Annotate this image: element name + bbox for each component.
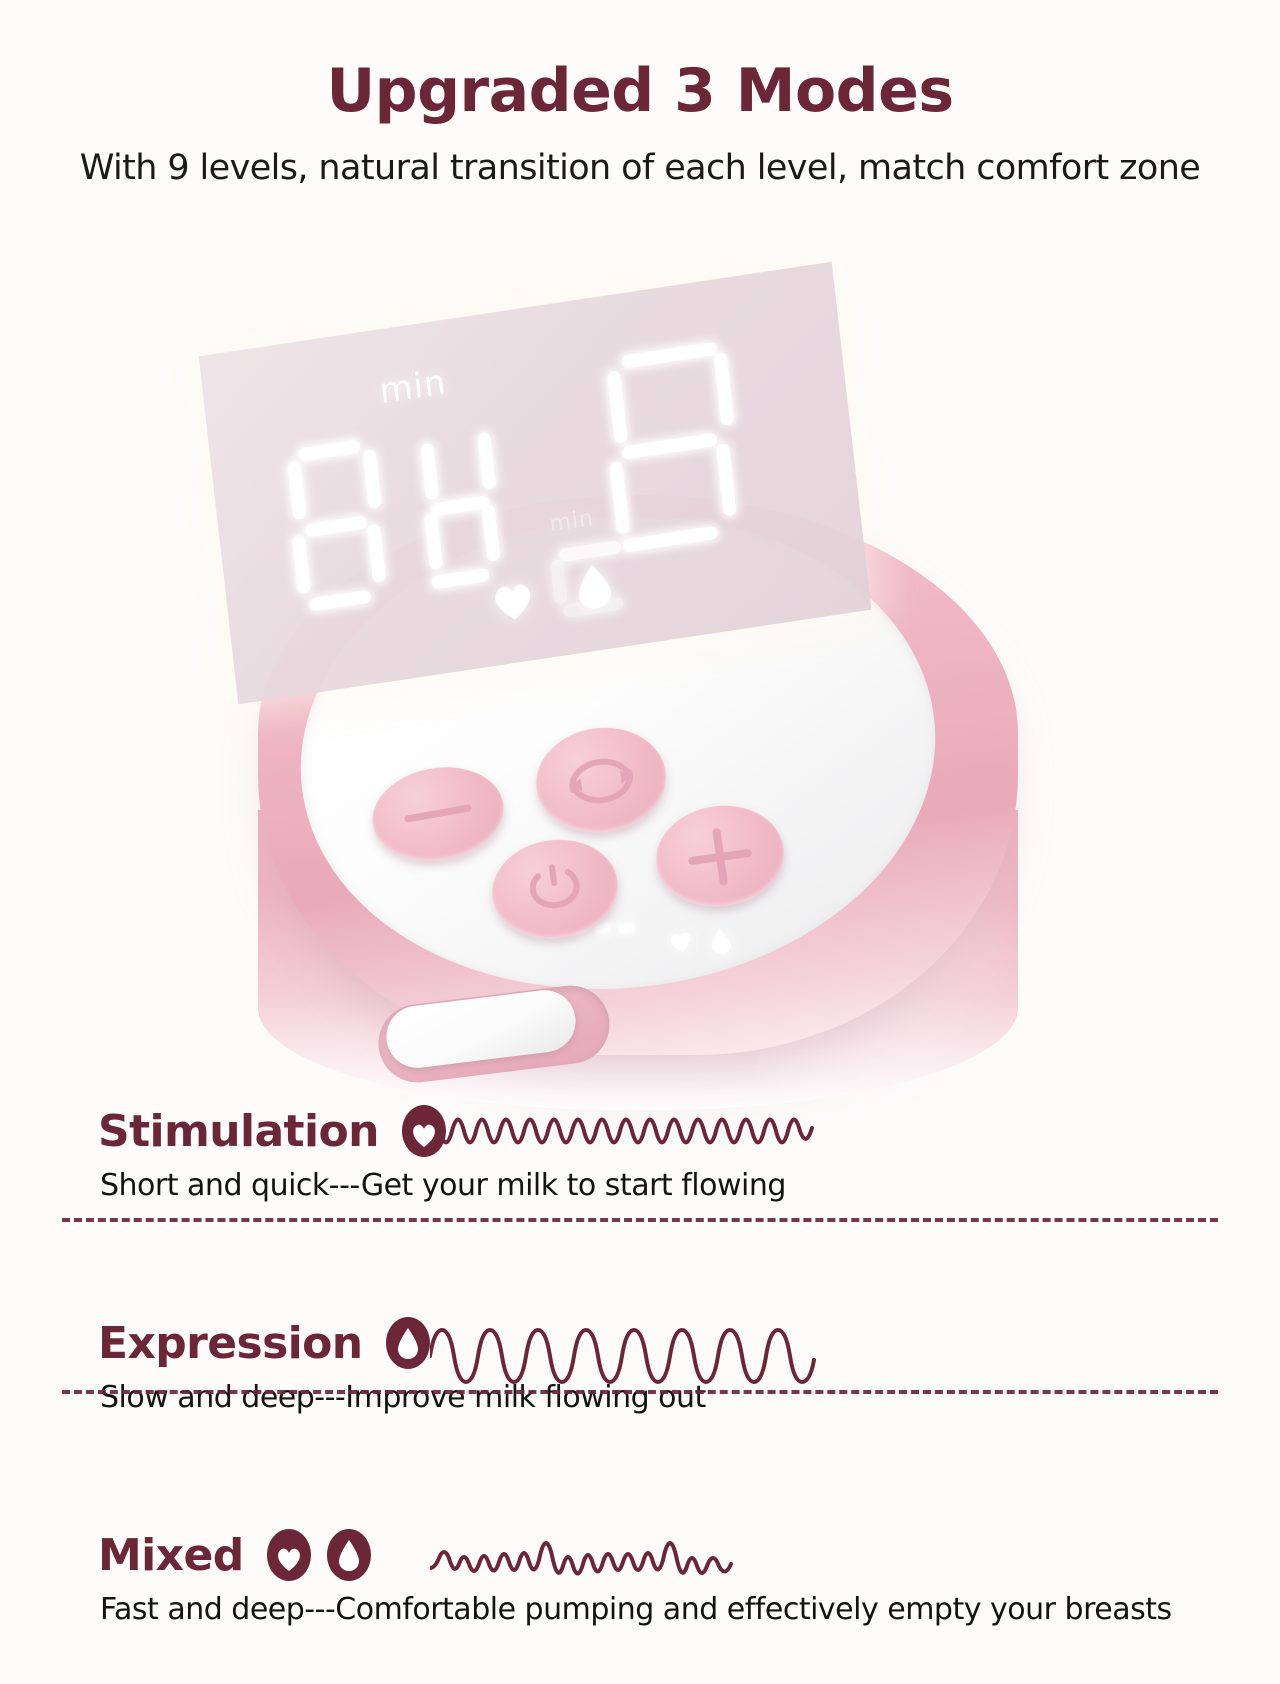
- mode-description: Short and quick---Get your milk to start…: [100, 1168, 786, 1203]
- mode-divider: [62, 1390, 1218, 1394]
- infographic-page: Upgraded 3 Modes With 9 levels, natural …: [0, 0, 1280, 1660]
- mode-heading: Stimulation: [98, 1104, 447, 1158]
- mode-description: Fast and deep---Comfortable pumping and …: [100, 1592, 1172, 1627]
- mode-heading: Mixed: [98, 1528, 372, 1582]
- breast-pump-device: min: [0, 250, 1280, 1130]
- expression-waveform: [430, 1308, 830, 1388]
- mode-title: Mixed: [98, 1530, 244, 1581]
- mode-icon-group: [266, 1528, 372, 1582]
- page-subtitle: With 9 levels, natural transition of eac…: [0, 148, 1280, 188]
- mode-title: Stimulation: [98, 1106, 379, 1157]
- droplet-icon: [573, 560, 616, 613]
- mode-heading: Expression: [98, 1316, 431, 1370]
- droplet-icon: [385, 1316, 431, 1370]
- droplet-icon: [708, 927, 734, 957]
- minus-icon: [401, 800, 474, 826]
- modes-list: Stimulation Short and quick---Get your m…: [0, 1090, 1280, 1684]
- mode-description: Slow and deep---Improve milk flowing out: [100, 1380, 706, 1415]
- cycle-arrows-icon: [556, 745, 646, 818]
- lcd-unit-label: min: [378, 362, 449, 412]
- page-title: Upgraded 3 Modes: [0, 56, 1280, 126]
- lcd-unit-label-secondary: min: [548, 506, 595, 537]
- mixed-waveform: [430, 1520, 840, 1600]
- product-illustration: min: [0, 250, 1280, 1130]
- mode-row-expression: Expression Slow and deep---Improve milk …: [0, 1302, 1280, 1472]
- heart-icon: [666, 928, 695, 955]
- heart-icon: [488, 577, 538, 626]
- droplet-icon: [326, 1528, 372, 1582]
- heart-icon: [266, 1528, 312, 1582]
- mode-icon-group: [385, 1316, 431, 1370]
- power-icon: [514, 855, 596, 925]
- mode-title: Expression: [98, 1318, 363, 1369]
- mode-row-stimulation: Stimulation Short and quick---Get your m…: [0, 1090, 1280, 1260]
- mode-row-mixed: Mixed Fast and deep---Comfortable pumpin…: [0, 1514, 1280, 1684]
- stimulation-waveform: [430, 1096, 830, 1166]
- mode-divider: [62, 1218, 1218, 1222]
- plus-icon: [678, 821, 762, 893]
